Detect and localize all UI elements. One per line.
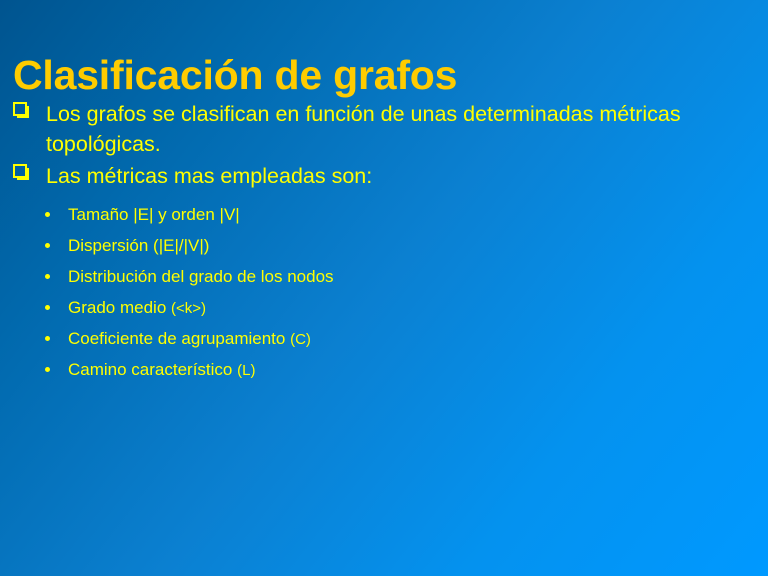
list-item: Tamaño |E| y orden |V| <box>0 199 768 230</box>
round-dot-bullet-icon <box>45 367 50 372</box>
list-item: Grado medio (<k>) <box>0 292 768 323</box>
list-item-suffix: (C) <box>290 331 311 348</box>
hollow-square-bullet-icon <box>13 164 27 178</box>
bullet-text: Los grafos se clasifican en función de u… <box>46 99 756 159</box>
list-item-label: Dispersión (|E|/|V|) <box>68 236 209 255</box>
round-dot-bullet-icon <box>45 212 50 217</box>
metrics-sub-list: Tamaño |E| y orden |V| Dispersión (|E|/|… <box>0 199 768 385</box>
list-item-label: Tamaño |E| y orden |V| <box>68 205 240 224</box>
list-item-suffix: (<k>) <box>171 300 206 317</box>
slide-title: Clasificación de grafos <box>13 51 753 99</box>
bullet-text: Las métricas mas empleadas son: <box>46 161 756 191</box>
bullet-item: Las métricas mas empleadas son: <box>12 161 756 191</box>
list-item: Coeficiente de agrupamiento (C) <box>0 323 768 354</box>
list-item: Distribución del grado de los nodos <box>0 261 768 292</box>
list-item-label: Grado medio <box>68 298 171 317</box>
bullet-item: Los grafos se clasifican en función de u… <box>12 99 756 159</box>
list-item: Camino característico (L) <box>0 354 768 385</box>
round-dot-bullet-icon <box>45 243 50 248</box>
list-item-label: Coeficiente de agrupamiento <box>68 329 290 348</box>
list-item: Dispersión (|E|/|V|) <box>0 230 768 261</box>
list-item-label: Camino característico <box>68 360 237 379</box>
round-dot-bullet-icon <box>45 336 50 341</box>
round-dot-bullet-icon <box>45 274 50 279</box>
presentation-slide: Clasificación de grafos Los grafos se cl… <box>0 0 768 576</box>
list-item-label: Distribución del grado de los nodos <box>68 267 334 286</box>
list-item-suffix: (L) <box>237 362 255 379</box>
round-dot-bullet-icon <box>45 305 50 310</box>
hollow-square-bullet-icon <box>13 102 27 116</box>
slide-body: Los grafos se clasifican en función de u… <box>0 99 768 385</box>
